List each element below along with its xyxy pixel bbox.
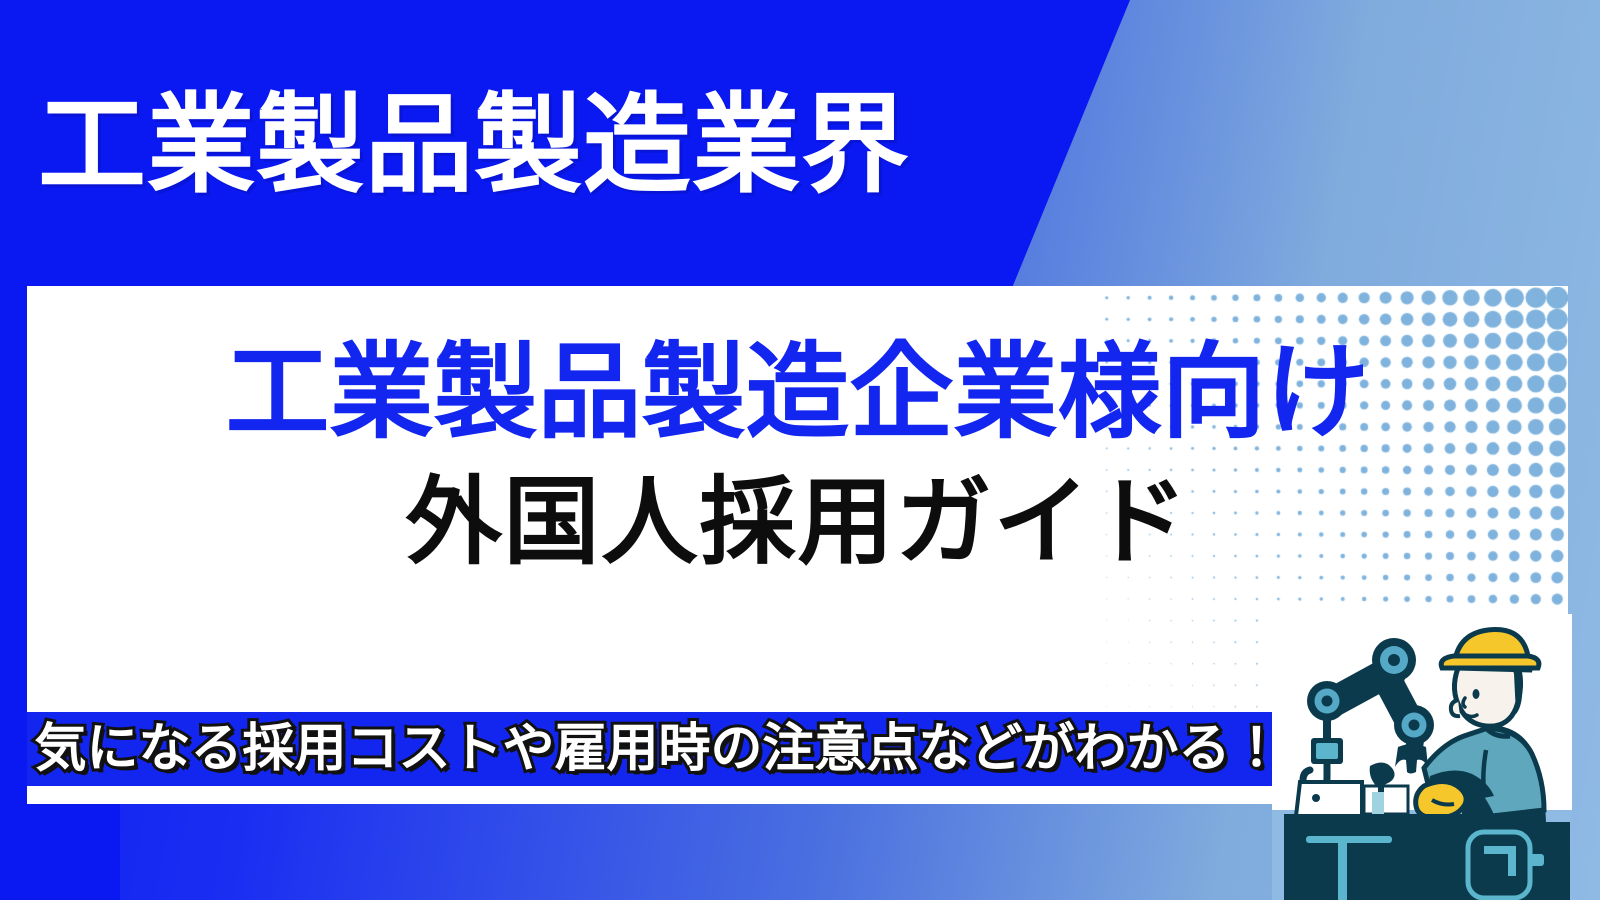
poster-canvas: 工業製品製造業界 工業製品製造企業様向け 外国人採用ガイド 気になる採用コストや… xyxy=(0,0,1600,900)
page-title: 工業製品製造企業様向け 外国人採用ガイド xyxy=(27,330,1568,583)
page-title-line2: 外国人採用ガイド xyxy=(27,463,1568,583)
workbench xyxy=(1284,814,1464,900)
toolbox-icon xyxy=(1458,822,1570,900)
laptop-icon xyxy=(1296,782,1362,816)
subtitle-ribbon: 気になる採用コストや雇用時の注意点などがわかる！ xyxy=(27,712,1290,786)
page-kicker: 工業製品製造業界 xyxy=(38,80,1028,210)
page-title-line1: 工業製品製造企業様向け xyxy=(27,330,1568,457)
factory-worker-illustration xyxy=(1272,614,1572,900)
subtitle-ribbon-text: 気になる採用コストや雇用時の注意点などがわかる！ xyxy=(34,723,1282,775)
